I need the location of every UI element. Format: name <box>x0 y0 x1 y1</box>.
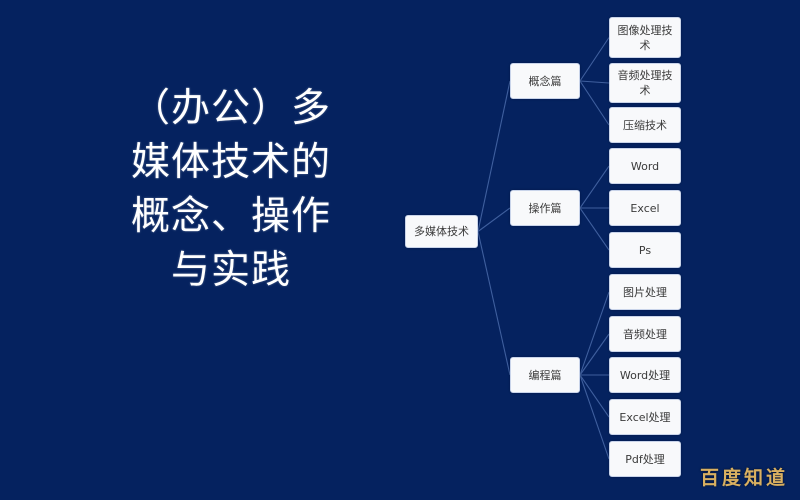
connector-root-to-branch-1 <box>478 208 510 232</box>
mindmap-node-branch-2[interactable]: 编程篇 <box>510 357 580 393</box>
mindmap-node-branch-1-leaf-2[interactable]: Ps <box>609 232 681 268</box>
mindmap-node-branch-0-leaf-0[interactable]: 图像处理技术 <box>609 17 681 58</box>
mindmap-node-branch-0-leaf-1[interactable]: 音频处理技术 <box>609 63 681 103</box>
mindmap-node-branch-1-leaf-1[interactable]: Excel <box>609 190 681 226</box>
connector-branch-0-leaf-2 <box>580 81 609 125</box>
mindmap-node-root[interactable]: 多媒体技术 <box>405 215 478 248</box>
slide-title: （办公）多 媒体技术的 概念、操作 与实践 <box>78 82 384 298</box>
slide-canvas: （办公）多 媒体技术的 概念、操作 与实践 多媒体技术概念篇图像处理技术音频处理… <box>0 0 800 500</box>
connector-branch-2-leaf-0 <box>580 292 609 375</box>
connector-branch-2-leaf-1 <box>580 334 609 375</box>
watermark: 百度知道 <box>700 463 788 490</box>
mindmap-node-branch-2-leaf-3[interactable]: Excel处理 <box>609 399 681 435</box>
mindmap-node-branch-2-leaf-2[interactable]: Word处理 <box>609 357 681 393</box>
connector-branch-0-leaf-1 <box>580 81 609 83</box>
connector-branch-2-leaf-3 <box>580 375 609 417</box>
connector-branch-2-leaf-4 <box>580 375 609 459</box>
mindmap-node-branch-1[interactable]: 操作篇 <box>510 190 580 226</box>
mindmap-node-branch-0-leaf-2[interactable]: 压缩技术 <box>609 107 681 143</box>
connector-branch-0-leaf-0 <box>580 38 609 82</box>
mindmap-node-branch-0[interactable]: 概念篇 <box>510 63 580 99</box>
connector-root-to-branch-2 <box>478 232 510 376</box>
connector-branch-1-leaf-2 <box>580 208 609 250</box>
mindmap-node-branch-2-leaf-1[interactable]: 音频处理 <box>609 316 681 352</box>
mindmap-node-branch-2-leaf-0[interactable]: 图片处理 <box>609 274 681 310</box>
connector-branch-1-leaf-0 <box>580 166 609 208</box>
mindmap-node-branch-1-leaf-0[interactable]: Word <box>609 148 681 184</box>
mindmap-node-branch-2-leaf-4[interactable]: Pdf处理 <box>609 441 681 477</box>
connector-root-to-branch-0 <box>478 81 510 232</box>
